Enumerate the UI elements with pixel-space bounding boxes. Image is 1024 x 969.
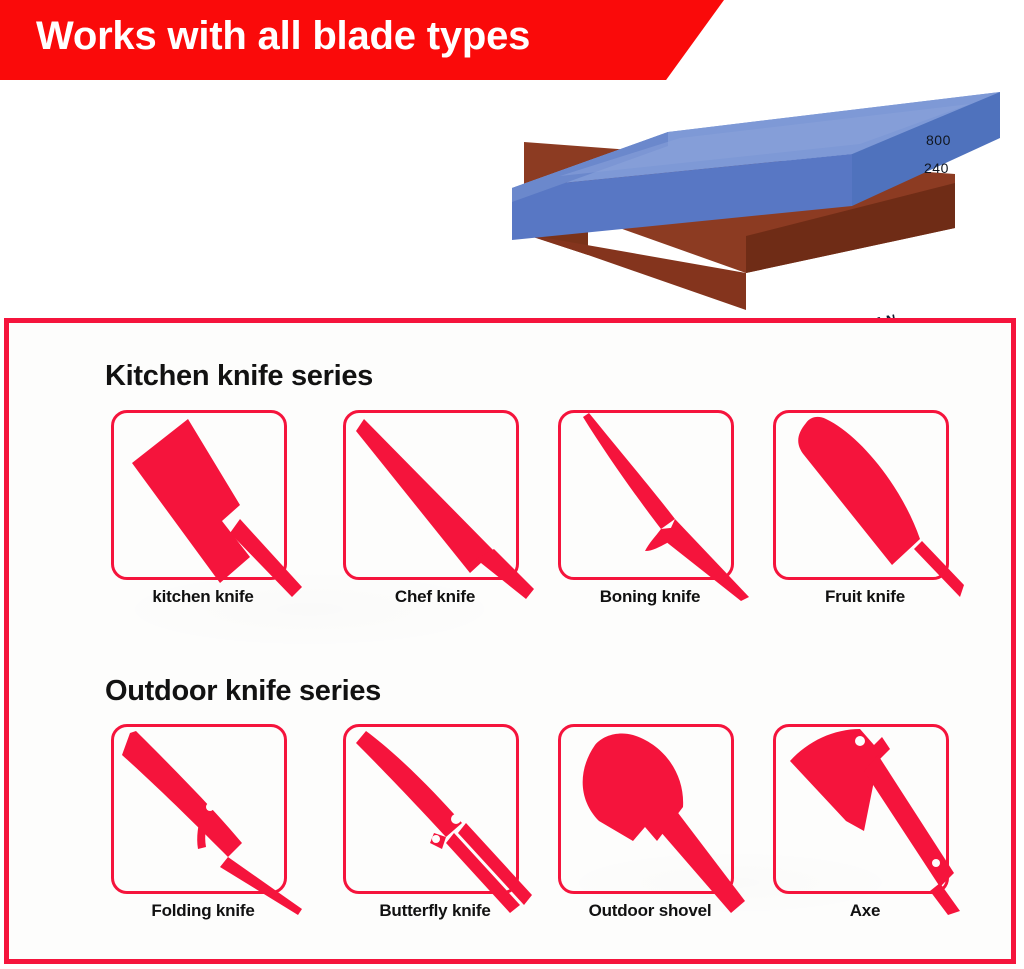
blade-types-panel: Kitchen knife series kitchen knife [4, 318, 1016, 964]
knife-cell-butterfly-knife[interactable]: Butterfly knife [335, 719, 550, 934]
fruit-knife-icon [773, 410, 949, 580]
knife-cell-boning-knife[interactable]: Boning knife [550, 405, 765, 620]
knife-cell-kitchen-knife[interactable]: kitchen knife [103, 405, 318, 620]
grit-label-fine: 800 [926, 132, 951, 148]
butterfly-knife-icon [343, 724, 519, 894]
knife-cell-fruit-knife[interactable]: Fruit knife [765, 405, 980, 620]
cleaver-knife-icon [111, 410, 287, 580]
product-photo-area: TOPXUAN 800 240 [0, 80, 1024, 318]
panel-background: Kitchen knife series kitchen knife [9, 323, 1011, 959]
banner-title: Works with all blade types [36, 14, 530, 59]
knife-cell-chef-knife[interactable]: Chef knife [335, 405, 550, 620]
knife-label-boning-knife: Boning knife [550, 587, 750, 607]
axe-icon [773, 724, 949, 894]
knife-cell-folding-knife[interactable]: Folding knife [103, 719, 318, 934]
kitchen-knife-row: kitchen knife Chef knife [9, 405, 1011, 620]
outdoor-knife-row: Folding knife Butterfly knife [9, 719, 1011, 934]
knife-label-outdoor-shovel: Outdoor shovel [550, 901, 750, 921]
header-banner: Works with all blade types [0, 0, 1024, 80]
grit-label-coarse: 240 [924, 160, 949, 176]
folding-knife-icon [111, 724, 287, 894]
knife-cell-axe[interactable]: Axe [765, 719, 980, 934]
knife-label-butterfly-knife: Butterfly knife [335, 901, 535, 921]
whetstone-image: TOPXUAN 800 240 [500, 88, 1020, 313]
knife-cell-outdoor-shovel[interactable]: Outdoor shovel [550, 719, 765, 934]
chef-knife-icon [343, 410, 519, 580]
boning-knife-icon [558, 410, 734, 580]
section-title-outdoor: Outdoor knife series [105, 675, 381, 708]
knife-label-folding-knife: Folding knife [103, 901, 303, 921]
section-title-kitchen: Kitchen knife series [105, 360, 373, 393]
knife-label-chef-knife: Chef knife [335, 587, 535, 607]
shovel-icon [558, 724, 734, 894]
knife-label-kitchen-knife: kitchen knife [103, 587, 303, 607]
knife-label-fruit-knife: Fruit knife [765, 587, 965, 607]
knife-label-axe: Axe [765, 901, 965, 921]
whetstone-illustration [500, 88, 1020, 313]
